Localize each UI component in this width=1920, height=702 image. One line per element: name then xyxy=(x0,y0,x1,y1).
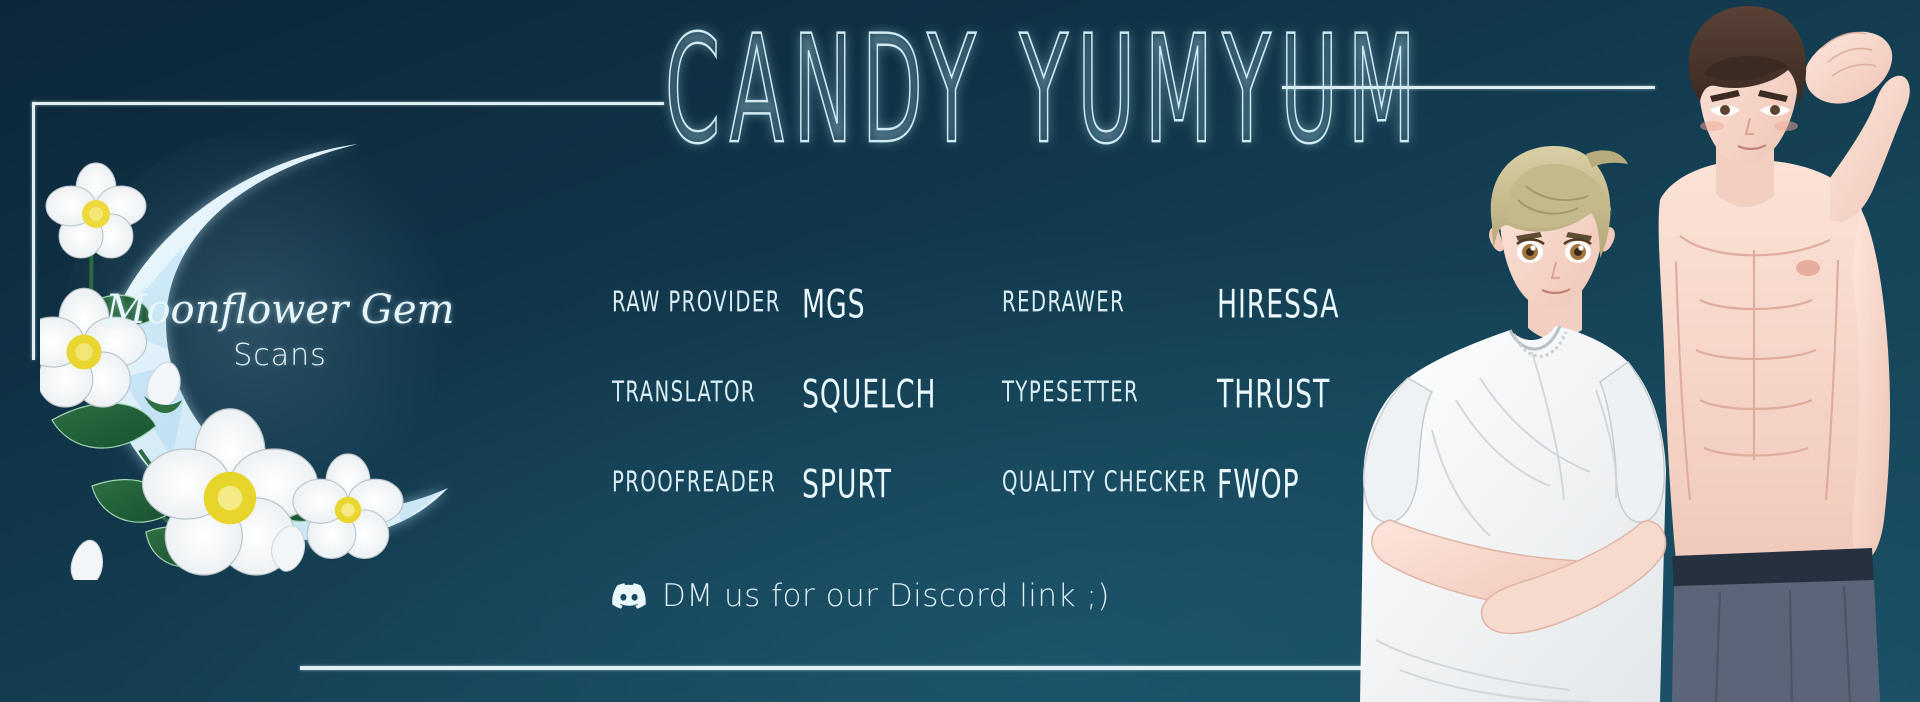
credit-role-redrawer: REDRAWER xyxy=(1002,287,1206,319)
page-title: CANDY YUMYUM xyxy=(665,13,1235,168)
credit-role-translator: TRANSLATOR xyxy=(612,377,793,409)
credit-role-quality-checker: QUALITY CHECKER xyxy=(1002,467,1206,499)
credit-role-typesetter: TYPESETTER xyxy=(1002,377,1206,409)
credits-banner: CANDY YUMYUM xyxy=(0,0,1920,702)
credit-person-redrawer: HIRESSA xyxy=(1217,280,1361,327)
moonflower-decoration xyxy=(40,120,500,580)
credit-person-raw-provider: MGS xyxy=(802,280,982,327)
discord-invite-row[interactable]: DM us for our Discord link ;) xyxy=(612,578,1110,614)
credit-person-translator: SQUELCH xyxy=(802,370,982,417)
credits-grid: RAW PROVIDER MGS REDRAWER HIRESSA TRANSL… xyxy=(612,258,1377,528)
frame-line-top xyxy=(32,102,664,105)
credit-person-proofreader: SPURT xyxy=(802,460,982,507)
credit-role-raw-provider: RAW PROVIDER xyxy=(612,287,793,319)
manhwa-characters-illustration xyxy=(1360,0,1920,702)
scanlation-logo: Moonflower Gem Scans xyxy=(40,120,500,580)
discord-invite-text[interactable]: DM us for our Discord link ;) xyxy=(662,578,1110,614)
frame-line-left xyxy=(32,102,35,360)
credit-person-typesetter: THRUST xyxy=(1217,370,1361,417)
credit-person-quality-checker: FWOP xyxy=(1217,460,1361,507)
frame-line-bottom xyxy=(300,666,1376,670)
discord-icon[interactable] xyxy=(612,583,646,609)
character-artwork xyxy=(1360,0,1920,702)
credit-role-proofreader: PROOFREADER xyxy=(612,467,793,499)
